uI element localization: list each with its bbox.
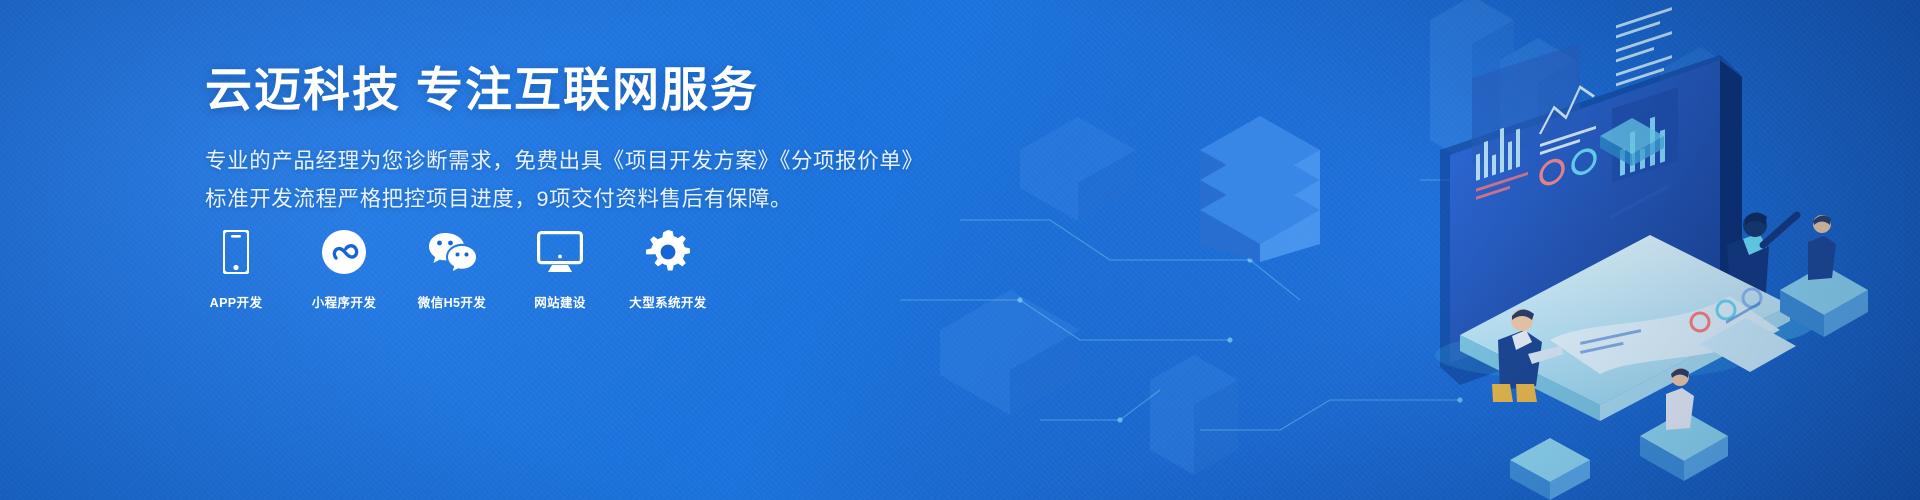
hero-banner: 云迈科技 专注互联网服务 专业的产品经理为您诊断需求，免费出具《项目开发方案》《… bbox=[0, 0, 1920, 500]
isometric-tech-illustration bbox=[900, 0, 1920, 500]
service-label: APP开发 bbox=[210, 292, 263, 311]
monitor-icon bbox=[537, 228, 583, 276]
mobile-phone-icon bbox=[223, 228, 249, 276]
mini-program-icon bbox=[322, 228, 366, 276]
service-item-mini-program[interactable]: 小程序开发 bbox=[308, 228, 380, 311]
service-label: 大型系统开发 bbox=[629, 292, 706, 311]
service-item-app[interactable]: APP开发 bbox=[200, 228, 272, 311]
subtitle-line-1: 专业的产品经理为您诊断需求，免费出具《项目开发方案》《分项报价单》 bbox=[205, 143, 965, 181]
service-label: 小程序开发 bbox=[312, 292, 377, 311]
service-item-website[interactable]: 网站建设 bbox=[524, 228, 596, 311]
service-list: APP开发 小程序开发 微信 bbox=[200, 228, 704, 311]
service-label: 微信H5开发 bbox=[418, 292, 486, 311]
banner-text-block: 云迈科技 专注互联网服务 专业的产品经理为您诊断需求，免费出具《项目开发方案》《… bbox=[205, 60, 965, 218]
gear-icon bbox=[646, 228, 690, 276]
service-label: 网站建设 bbox=[534, 292, 586, 311]
subtitle-group: 专业的产品经理为您诊断需求，免费出具《项目开发方案》《分项报价单》 标准开发流程… bbox=[205, 143, 965, 218]
service-item-wechat-h5[interactable]: 微信H5开发 bbox=[416, 228, 488, 311]
service-item-large-system[interactable]: 大型系统开发 bbox=[632, 228, 704, 311]
wechat-icon bbox=[428, 228, 476, 276]
subtitle-line-2: 标准开发流程严格把控项目进度，9项交付资料售后有保障。 bbox=[205, 181, 965, 219]
page-title: 云迈科技 专注互联网服务 bbox=[205, 60, 965, 120]
